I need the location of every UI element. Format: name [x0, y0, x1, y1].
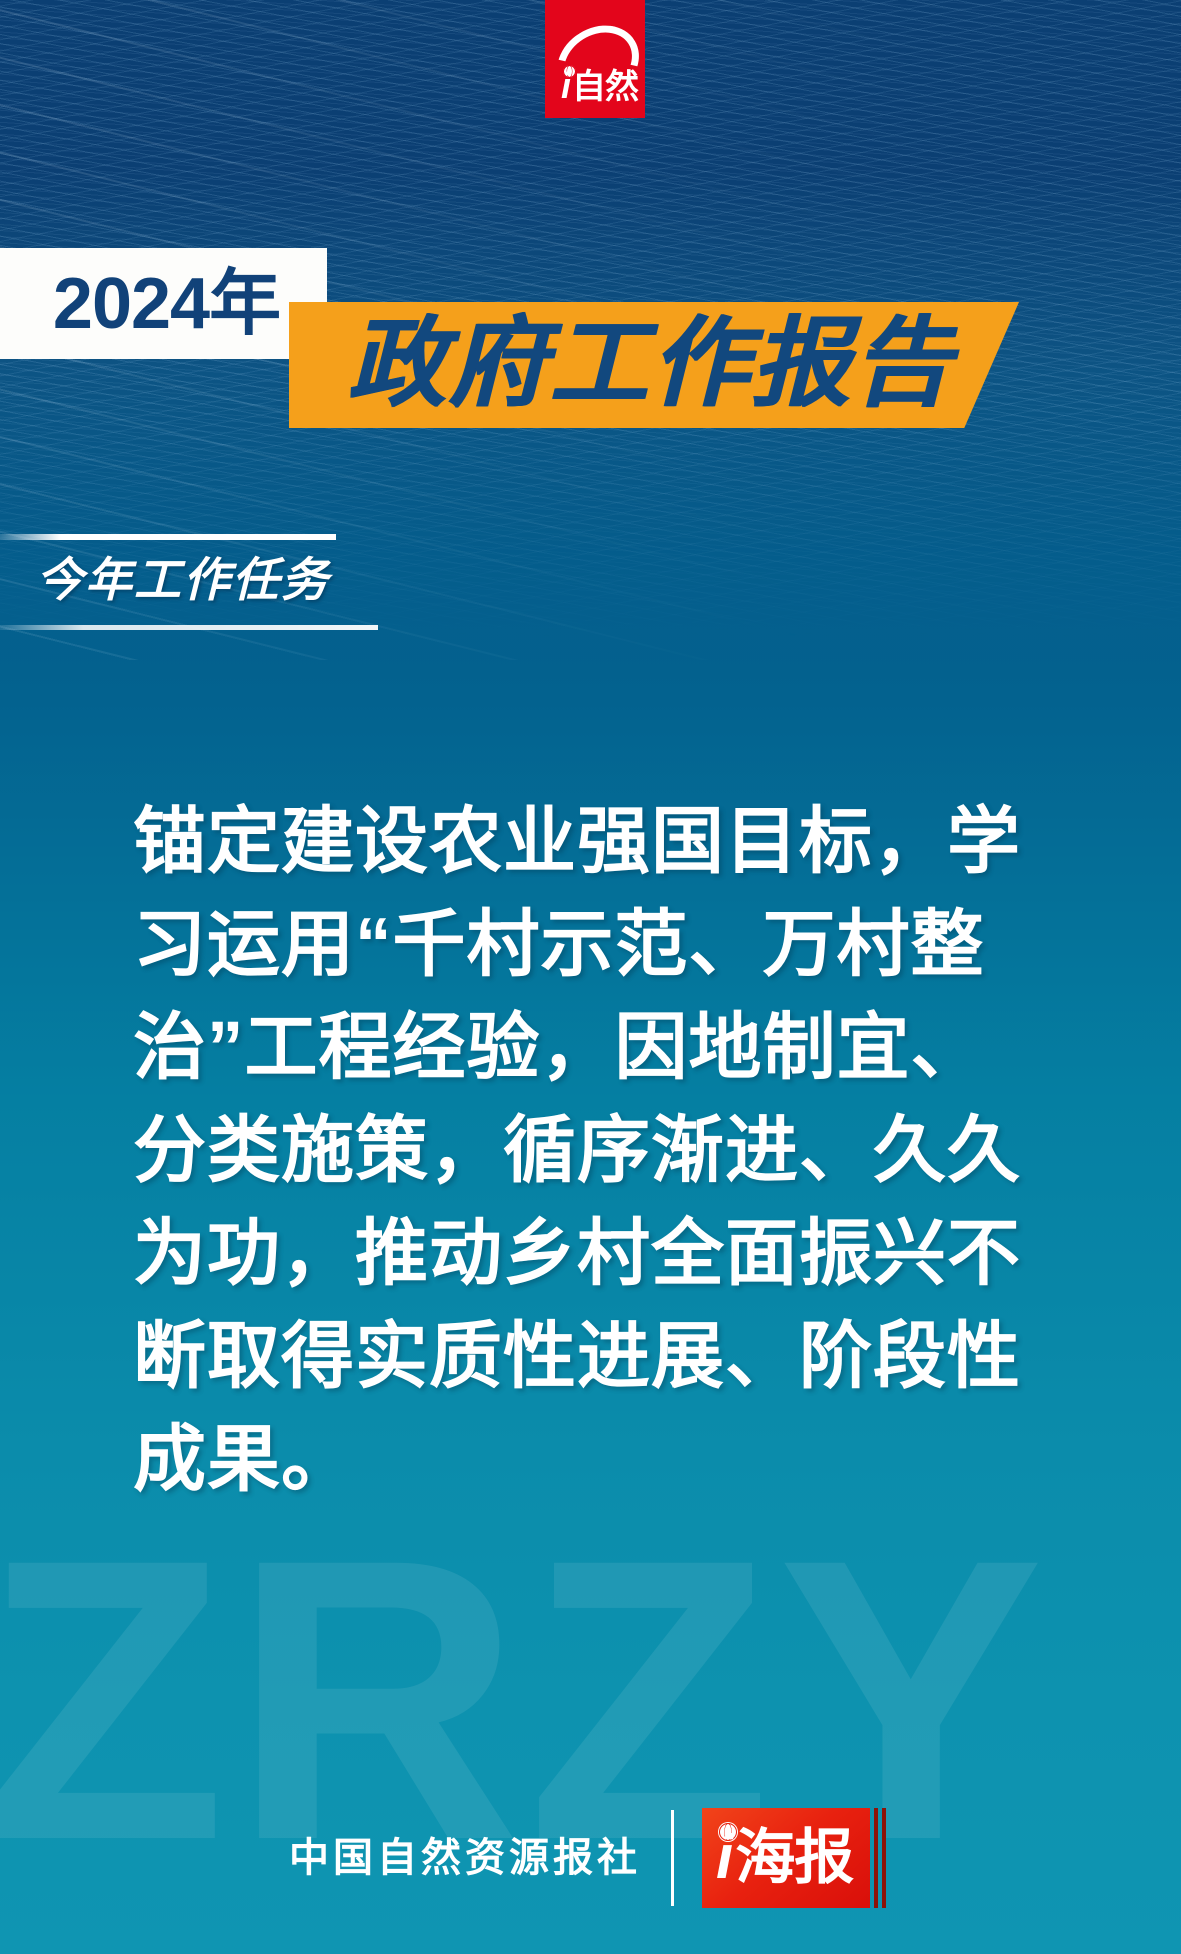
section-rule-bottom [0, 625, 378, 630]
year-label: 2024年 [47, 268, 280, 340]
body-paragraph: 锚定建设农业强国目标，学习运用“千村示范、万村整治”工程经验，因地制宜、分类施策… [133, 790, 1028, 1511]
press-name-label: 中国自然资源报社 [289, 1834, 641, 1882]
year-badge: 2024年 [0, 248, 327, 359]
footer-brand-logo-text: i海报 [716, 1818, 853, 1898]
poster-root: ZRZY i自然 2024年 政府工作报告 今年工作任务 锚定建设农业强国目标，… [0, 0, 1181, 1954]
report-title-banner: 政府工作报告 [289, 302, 1019, 428]
section-label: 今年工作任务 [36, 548, 330, 612]
report-title-label: 政府工作报告 [347, 305, 953, 425]
footer-logo-stripe-1 [874, 1808, 878, 1908]
footer-brand-logo-label: 海报 [735, 1824, 853, 1891]
footer-brand-logo: i海报 [702, 1808, 892, 1908]
section-rule-top [0, 534, 336, 540]
header-brand-logo: i自然 [545, 0, 645, 118]
brand-i-letter: i [561, 69, 572, 103]
footer: 中国自然资源报社 i海报 [0, 1798, 1181, 1918]
header-brand-logo-text: i自然 [561, 69, 638, 104]
footer-logo-stripe-2 [882, 1808, 886, 1908]
footer-divider [671, 1810, 674, 1906]
brand-logo-label: 自然 [572, 68, 638, 106]
footer-brand-i-letter: i [716, 1818, 735, 1898]
